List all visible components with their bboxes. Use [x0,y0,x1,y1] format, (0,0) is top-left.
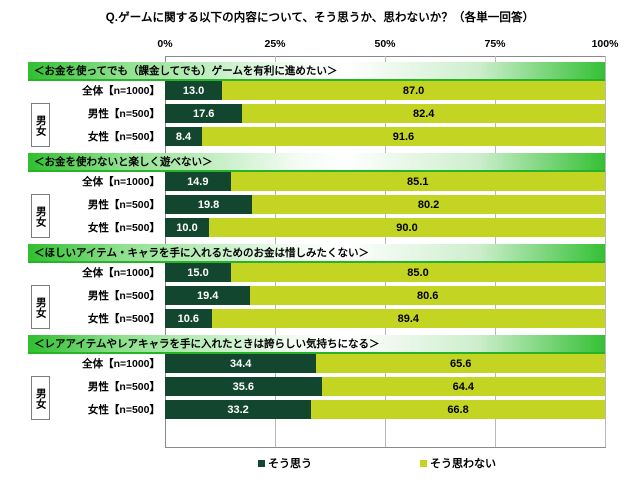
bar-value-label: 35.6 [233,381,254,393]
bar-value-label: 80.6 [417,290,438,302]
bar-segment-disagree: 65.6 [316,354,605,373]
bar-track: 14.985.1 [165,172,605,191]
chart-row: 全体【n=1000】15.085.0 [0,261,640,284]
chart-row: 女性【n=500】10.090.0 [0,216,640,239]
page-title: Q.ゲームに関する以下の内容について、そう思うか、思わないか？（各単一回答） [0,9,640,25]
bar-segment-disagree: 85.0 [231,263,605,282]
bar-value-label: 19.8 [198,199,219,211]
bar-segment-agree: 19.8 [165,195,252,214]
bar-track: 10.090.0 [165,218,605,237]
chart-group: ＜ほしいアイテム・キャラを手に入れるためのお金は惜しみたくない＞男女全体【n=1… [0,244,640,330]
group-header-label: ＜ほしいアイテム・キャラを手に入れるためのお金は惜しみたくない＞ [34,245,369,261]
chart-legend: そう思うそう思わない [0,455,640,471]
row-label-wrap: 全体【n=1000】 [40,170,165,193]
bar-segment-disagree: 87.0 [222,81,605,100]
x-axis-labels: 0%25%50%75%100% [165,38,605,56]
row-label: 全体【n=1000】 [68,170,165,193]
row-label-wrap: 全体【n=1000】 [40,79,165,102]
bar-segment-agree: 14.9 [165,172,231,191]
chart-row: 全体【n=1000】14.985.1 [0,170,640,193]
row-label: 女性【n=500】 [68,398,165,421]
bar-value-label: 91.6 [393,131,414,143]
bar-segment-disagree: 90.0 [209,218,605,237]
chart-row: 男性【n=500】35.664.4 [0,375,640,398]
bar-track: 13.087.0 [165,81,605,100]
chart-group: ＜レアアイテムやレアキャラを手に入れたときは誇らしい気持ちになる＞男女全体【n=… [0,335,640,421]
bar-segment-disagree: 82.4 [242,104,605,123]
bar-segment-disagree: 91.6 [202,127,605,146]
bar-segment-agree: 13.0 [165,81,222,100]
row-label-wrap: 女性【n=500】 [40,307,165,330]
row-label-wrap: 女性【n=500】 [40,216,165,239]
legend-swatch-icon [258,460,265,467]
legend-swatch-icon [420,460,427,467]
bar-value-label: 33.2 [227,404,248,416]
bar-value-label: 34.4 [230,358,251,370]
bar-segment-agree: 15.0 [165,263,231,282]
chart-row: 男性【n=500】19.480.6 [0,284,640,307]
row-label-wrap: 男性【n=500】 [40,375,165,398]
bar-value-label: 19.4 [197,290,218,302]
x-axis-tick-label: 50% [374,38,395,50]
chart-group: ＜お金を使ってでも（課金してでも）ゲームを有利に進めたい＞男女全体【n=1000… [0,62,640,148]
row-label: 全体【n=1000】 [68,261,165,284]
chart-group: ＜お金を使わないと楽しく遊べない＞男女全体【n=1000】14.985.1男性【… [0,153,640,239]
row-label-wrap: 男性【n=500】 [40,193,165,216]
group-header-label: ＜お金を使ってでも（課金してでも）ゲームを有利に進めたい＞ [34,63,337,79]
x-axis-tick-label: 75% [484,38,505,50]
bar-segment-agree: 10.6 [165,309,212,328]
row-label-wrap: 女性【n=500】 [40,398,165,421]
chart-row: 女性【n=500】33.266.8 [0,398,640,421]
bar-segment-agree: 33.2 [165,400,311,419]
row-label: 男性【n=500】 [68,284,165,307]
bar-segment-disagree: 80.2 [252,195,605,214]
chart-row: 男性【n=500】17.682.4 [0,102,640,125]
chart-row: 全体【n=1000】13.087.0 [0,79,640,102]
x-axis-tick-label: 25% [264,38,285,50]
row-label: 男性【n=500】 [68,102,165,125]
row-label: 全体【n=1000】 [68,352,165,375]
bar-segment-disagree: 89.4 [212,309,605,328]
bar-track: 34.465.6 [165,354,605,373]
bar-segment-disagree: 66.8 [311,400,605,419]
group-header-label: ＜レアアイテムやレアキャラを手に入れたときは誇らしい気持ちになる＞ [34,336,379,352]
bar-track: 17.682.4 [165,104,605,123]
group-header-label: ＜お金を使わないと楽しく遊べない＞ [34,154,213,170]
chart-root: Q.ゲームに関する以下の内容について、そう思うか、思わないか？（各単一回答） 0… [0,0,640,491]
x-axis-tick-label: 0% [157,38,172,50]
row-label: 男性【n=500】 [68,193,165,216]
bar-segment-agree: 8.4 [165,127,202,146]
row-label-wrap: 女性【n=500】 [40,125,165,148]
bar-segment-disagree: 85.1 [231,172,605,191]
bar-track: 10.689.4 [165,309,605,328]
chart-row: 男性【n=500】19.880.2 [0,193,640,216]
row-label-wrap: 男性【n=500】 [40,102,165,125]
row-label-wrap: 全体【n=1000】 [40,352,165,375]
plot-bottom-edge [165,447,606,448]
chart-row: 女性【n=500】8.491.6 [0,125,640,148]
row-label-wrap: 男性【n=500】 [40,284,165,307]
chart-row: 全体【n=1000】34.465.6 [0,352,640,375]
bar-value-label: 85.1 [407,176,428,188]
bar-segment-agree: 34.4 [165,354,316,373]
bar-value-label: 90.0 [396,222,417,234]
bar-value-label: 14.9 [187,176,208,188]
row-label-wrap: 全体【n=1000】 [40,261,165,284]
row-label: 全体【n=1000】 [68,79,165,102]
bar-track: 19.480.6 [165,286,605,305]
bar-value-label: 17.6 [193,108,214,120]
bar-value-label: 89.4 [398,313,419,325]
bar-value-label: 82.4 [413,108,434,120]
legend-item[interactable]: そう思う [258,455,312,471]
bar-value-label: 10.6 [178,313,199,325]
bar-segment-agree: 10.0 [165,218,209,237]
bar-value-label: 13.0 [183,85,204,97]
bar-segment-disagree: 64.4 [322,377,605,396]
bar-segment-agree: 17.6 [165,104,242,123]
chart-row: 女性【n=500】10.689.4 [0,307,640,330]
bar-value-label: 65.6 [450,358,471,370]
row-label: 男性【n=500】 [68,375,165,398]
bar-track: 35.664.4 [165,377,605,396]
row-label: 女性【n=500】 [68,216,165,239]
bar-value-label: 64.4 [453,381,474,393]
row-label: 女性【n=500】 [68,125,165,148]
row-label: 女性【n=500】 [68,307,165,330]
bar-value-label: 15.0 [187,267,208,279]
bar-track: 8.491.6 [165,127,605,146]
bar-value-label: 66.8 [447,404,468,416]
bar-segment-disagree: 80.6 [250,286,605,305]
legend-label: そう思わない [430,455,496,471]
bar-value-label: 10.0 [176,222,197,234]
bar-track: 19.880.2 [165,195,605,214]
x-axis-tick-label: 100% [592,38,619,50]
bar-value-label: 87.0 [403,85,424,97]
bar-value-label: 80.2 [418,199,439,211]
bar-track: 15.085.0 [165,263,605,282]
bar-segment-agree: 19.4 [165,286,250,305]
bar-value-label: 8.4 [176,131,191,143]
legend-label: そう思う [268,455,312,471]
legend-item[interactable]: そう思わない [420,455,496,471]
bar-track: 33.266.8 [165,400,605,419]
bar-value-label: 85.0 [407,267,428,279]
bar-segment-agree: 35.6 [165,377,322,396]
